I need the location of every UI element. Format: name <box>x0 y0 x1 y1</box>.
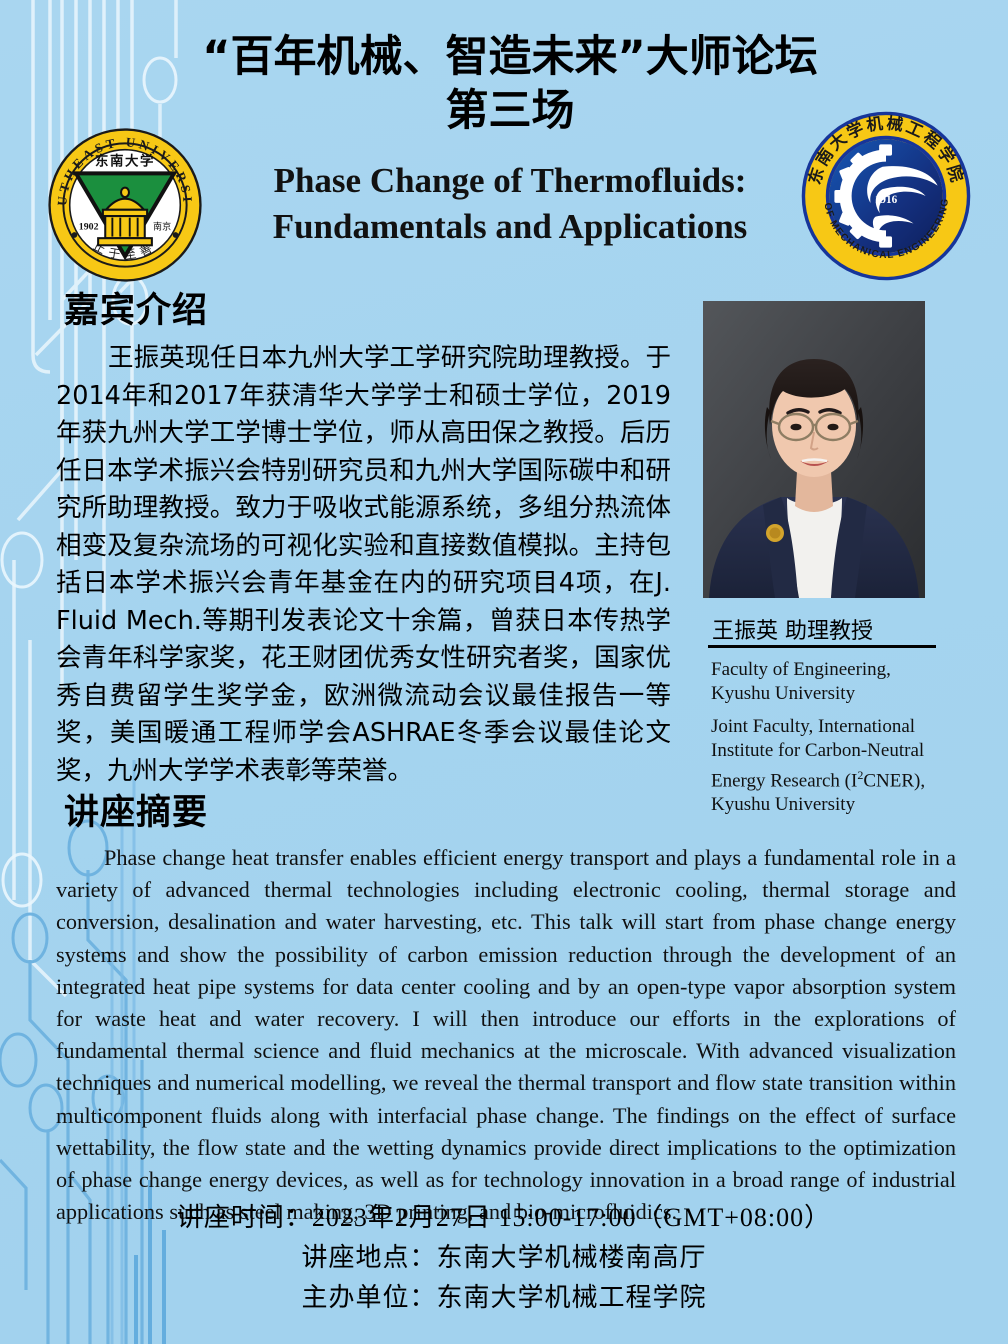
poster-title-english: Phase Change of Thermofluids: Fundamenta… <box>170 158 850 250</box>
speaker-name-and-title: 王振英 助理教授 <box>712 613 940 645</box>
title-en-line-1: Phase Change of Thermofluids: <box>170 158 850 204</box>
seminar-poster: SOUTHEAST UNIVERSITY 止于至善 东南大学 1902 南京 <box>0 0 1008 1344</box>
title-line-2: 第三场 <box>150 84 870 138</box>
event-details-footer: 讲座时间：2023年2月27日 15:00-17:00（GMT+08:00） 讲… <box>0 1198 1008 1318</box>
title-line-1: “百年机械、智造未来”大师论坛 <box>150 30 870 84</box>
section-heading-abstract: 讲座摘要 <box>64 784 208 835</box>
event-time: 讲座时间：2023年2月27日 15:00-17:00（GMT+08:00） <box>0 1198 1008 1238</box>
svg-text:1902: 1902 <box>79 221 99 232</box>
title-en-line-2: Fundamentals and Applications <box>170 204 850 250</box>
speaker-affiliation-1: Faculty of Engineering, Kyushu Universit… <box>711 658 949 706</box>
event-location: 讲座地点：东南大学机械楼南高厅 <box>0 1238 1008 1278</box>
section-heading-guest-intro: 嘉宾介绍 <box>64 282 208 333</box>
abstract-text: Phase change heat transfer enables effic… <box>56 842 956 1228</box>
svg-text:南京: 南京 <box>153 220 171 232</box>
poster-title-chinese: “百年机械、智造未来”大师论坛 第三场 <box>150 30 870 138</box>
speaker-biography-text: 王振英现任日本九州大学工学研究院助理教授。于2014年和2017年获清华大学学士… <box>56 340 671 790</box>
speaker-name-underline <box>708 645 936 648</box>
svg-text:东南大学: 东南大学 <box>95 153 155 170</box>
event-organizer: 主办单位：东南大学机械工程学院 <box>0 1278 1008 1318</box>
svg-text:1916: 1916 <box>875 194 898 206</box>
speaker-portrait-photo <box>703 301 925 598</box>
speaker-affiliation-2: Joint Faculty, International Institute f… <box>711 715 949 817</box>
